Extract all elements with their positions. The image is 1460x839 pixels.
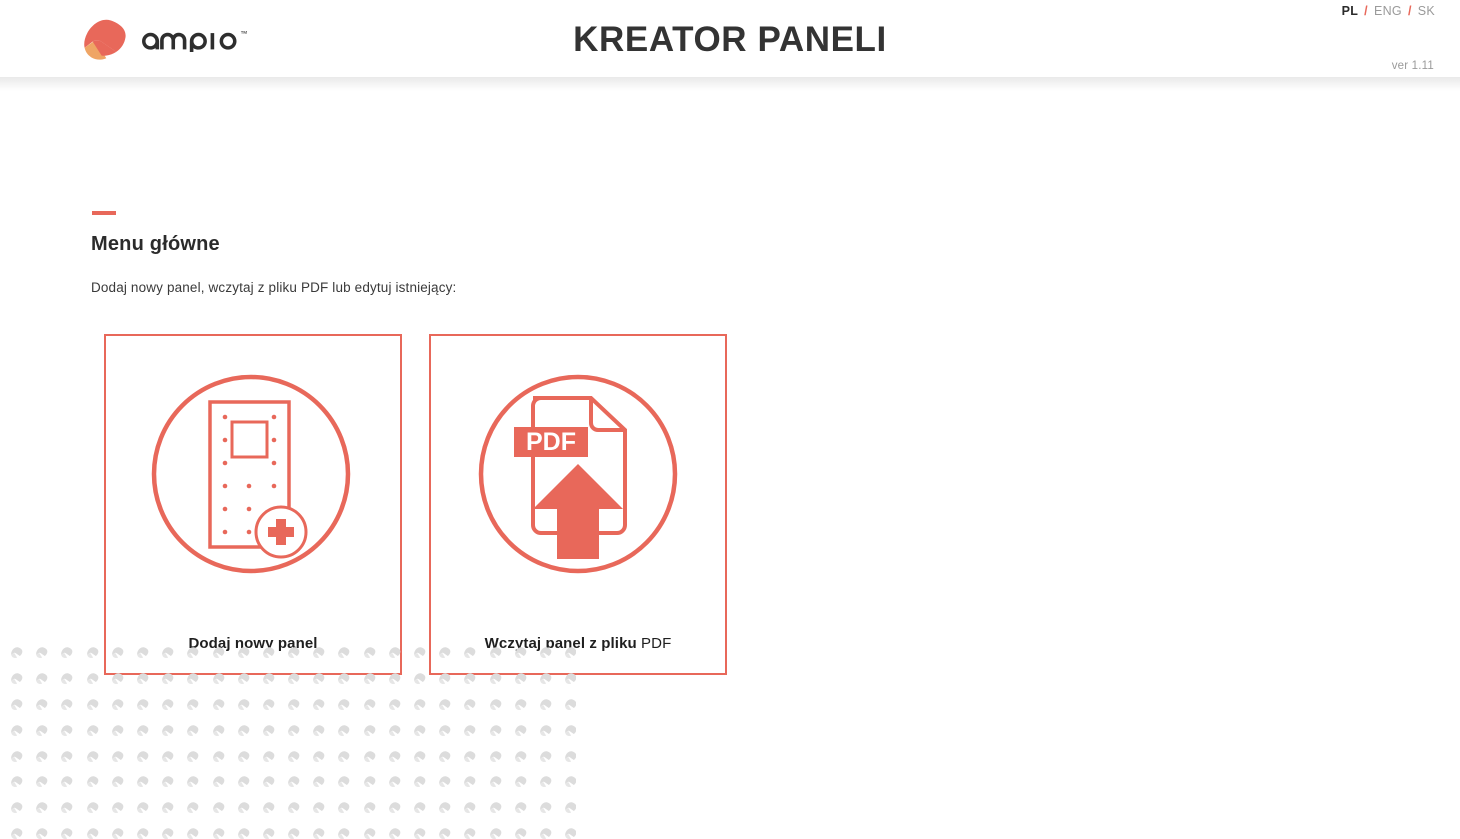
pattern-logo-tile [111, 827, 124, 839]
pattern-logo-tile [186, 698, 199, 710]
load-panel-from-pdf-label: Wczytaj panel z pliku PDF [431, 635, 725, 652]
pattern-logo-tile [237, 775, 250, 787]
pattern-logo-tile [363, 724, 376, 736]
pattern-logo-tile [111, 724, 124, 736]
load-panel-from-pdf-label-bold: Wczytaj panel z pliku [485, 635, 637, 652]
add-new-panel-label-bold: Dodaj nowy panel [188, 635, 317, 652]
pattern-logo-tile [161, 698, 174, 710]
pattern-logo-tile [10, 672, 23, 684]
pattern-logo-tile [262, 750, 275, 762]
pattern-logo-tile [388, 827, 401, 839]
pattern-logo-tile [262, 801, 275, 813]
pattern-logo-tile [287, 724, 300, 736]
pattern-logo-tile [186, 801, 199, 813]
pattern-logo-tile [438, 698, 451, 710]
pattern-logo-tile [363, 750, 376, 762]
pattern-logo-tile [337, 827, 350, 839]
pattern-logo-tile [111, 775, 124, 787]
pattern-logo-tile [136, 698, 149, 710]
pattern-logo-tile [312, 698, 325, 710]
version-label: ver 1.11 [1392, 60, 1434, 72]
pattern-logo-tile [262, 724, 275, 736]
pattern-logo-tile [312, 801, 325, 813]
pattern-logo-tile [463, 827, 476, 839]
pattern-logo-tile [463, 750, 476, 762]
pattern-logo-tile [10, 646, 23, 658]
pattern-logo-tile [136, 775, 149, 787]
app-header: ™ KREATOR PANELI PL / ENG / SK ver 1.11 [0, 0, 1460, 77]
pattern-logo-tile [212, 724, 225, 736]
pattern-logo-tile [60, 827, 73, 839]
pattern-logo-tile [363, 827, 376, 839]
pattern-logo-tile [463, 801, 476, 813]
pattern-logo-tile [337, 750, 350, 762]
pattern-logo-tile [186, 750, 199, 762]
pattern-logo-tile [514, 724, 527, 736]
pattern-logo-tile [262, 827, 275, 839]
pattern-logo-tile [10, 827, 23, 839]
pattern-logo-tile [564, 827, 576, 839]
pattern-logo-tile [60, 672, 73, 684]
pattern-logo-tile [413, 724, 426, 736]
pattern-logo-tile [10, 724, 23, 736]
pattern-logo-tile [161, 724, 174, 736]
add-new-panel-label: Dodaj nowy panel [106, 635, 400, 652]
pattern-logo-tile [413, 775, 426, 787]
pattern-logo-tile [539, 724, 552, 736]
pattern-logo-tile [438, 827, 451, 839]
section-title: Menu główne [91, 233, 220, 256]
pattern-logo-tile [312, 750, 325, 762]
pattern-logo-tile [35, 750, 48, 762]
pattern-logo-tile [86, 775, 99, 787]
pattern-logo-tile [60, 698, 73, 710]
pdf-upload-icon: PDF [471, 369, 685, 583]
pattern-logo-tile [86, 672, 99, 684]
pattern-logo-tile [463, 724, 476, 736]
pattern-logo-tile [35, 801, 48, 813]
pattern-logo-tile [60, 724, 73, 736]
pattern-logo-tile [186, 724, 199, 736]
pattern-logo-tile [161, 750, 174, 762]
pattern-logo-tile [237, 801, 250, 813]
pattern-logo-tile [237, 750, 250, 762]
pattern-logo-tile [111, 750, 124, 762]
pattern-logo-tile [363, 698, 376, 710]
pattern-logo-tile [86, 724, 99, 736]
pattern-logo-tile [413, 801, 426, 813]
pattern-logo-tile [35, 775, 48, 787]
pattern-logo-tile [489, 801, 502, 813]
pattern-logo-tile [111, 801, 124, 813]
action-card-list: Dodaj nowy panel PDF Wczytaj pan [104, 334, 727, 675]
pattern-logo-tile [489, 724, 502, 736]
pattern-logo-tile [564, 698, 576, 710]
pattern-logo-tile [212, 801, 225, 813]
pattern-logo-tile [287, 775, 300, 787]
pattern-logo-tile [564, 775, 576, 787]
pattern-logo-tile [35, 646, 48, 658]
pattern-logo-tile [212, 775, 225, 787]
pattern-logo-tile [186, 775, 199, 787]
pattern-logo-tile [438, 775, 451, 787]
pattern-logo-tile [564, 750, 576, 762]
pattern-logo-tile [489, 750, 502, 762]
pattern-logo-tile [489, 775, 502, 787]
pattern-logo-tile [10, 750, 23, 762]
pattern-logo-tile [86, 827, 99, 839]
pattern-logo-tile [287, 827, 300, 839]
load-panel-from-pdf-card[interactable]: PDF Wczytaj panel z pliku PDF [429, 334, 727, 675]
pattern-logo-tile [10, 698, 23, 710]
pattern-logo-tile [363, 801, 376, 813]
pattern-logo-tile [438, 724, 451, 736]
pattern-logo-tile [363, 775, 376, 787]
pattern-logo-tile [287, 801, 300, 813]
pattern-logo-tile [489, 827, 502, 839]
pattern-logo-tile [337, 775, 350, 787]
lang-separator-2: / [1408, 4, 1412, 18]
pattern-logo-tile [136, 827, 149, 839]
page-title: KREATOR PANELI [0, 20, 1460, 60]
pattern-logo-tile [539, 801, 552, 813]
pattern-logo-tile [136, 750, 149, 762]
pattern-logo-tile [136, 801, 149, 813]
pattern-logo-tile [514, 827, 527, 839]
section-subtitle: Dodaj nowy panel, wczytaj z pliku PDF lu… [91, 280, 456, 295]
pattern-logo-tile [212, 750, 225, 762]
pattern-logo-tile [388, 775, 401, 787]
pattern-logo-tile [287, 698, 300, 710]
pattern-logo-tile [539, 775, 552, 787]
pattern-logo-tile [262, 698, 275, 710]
pattern-logo-tile [60, 750, 73, 762]
pattern-logo-tile [60, 646, 73, 658]
panel-with-plus-icon [146, 369, 360, 583]
pattern-logo-tile [413, 698, 426, 710]
pattern-logo-tile [463, 775, 476, 787]
pattern-logo-tile [438, 750, 451, 762]
pattern-logo-tile [539, 698, 552, 710]
pattern-logo-tile [312, 724, 325, 736]
pattern-logo-tile [86, 750, 99, 762]
pattern-logo-tile [111, 698, 124, 710]
add-new-panel-card[interactable]: Dodaj nowy panel [104, 334, 402, 675]
pattern-logo-tile [35, 827, 48, 839]
pattern-logo-tile [10, 775, 23, 787]
pattern-logo-tile [86, 801, 99, 813]
pattern-logo-tile [388, 724, 401, 736]
language-switcher[interactable]: PL / ENG / SK [1342, 4, 1435, 18]
pattern-logo-tile [337, 801, 350, 813]
pattern-logo-tile [86, 698, 99, 710]
pattern-logo-tile [438, 801, 451, 813]
pattern-logo-tile [413, 750, 426, 762]
pattern-logo-tile [161, 775, 174, 787]
pattern-logo-tile [312, 775, 325, 787]
section-accent-rule [92, 211, 116, 215]
pattern-logo-tile [287, 750, 300, 762]
pattern-logo-tile [35, 698, 48, 710]
pattern-logo-tile [237, 827, 250, 839]
pattern-logo-tile [35, 672, 48, 684]
pattern-logo-tile [514, 775, 527, 787]
lang-option-eng[interactable]: ENG [1374, 4, 1402, 18]
pattern-logo-tile [337, 698, 350, 710]
pdf-badge-text: PDF [526, 428, 576, 456]
pattern-logo-tile [237, 724, 250, 736]
pattern-logo-tile [514, 801, 527, 813]
pattern-logo-tile [262, 775, 275, 787]
pattern-logo-tile [514, 750, 527, 762]
pattern-logo-tile [35, 724, 48, 736]
pattern-logo-tile [388, 750, 401, 762]
pattern-logo-tile [86, 646, 99, 658]
pattern-logo-tile [564, 724, 576, 736]
pattern-logo-tile [237, 698, 250, 710]
pattern-logo-tile [212, 698, 225, 710]
pattern-logo-tile [312, 827, 325, 839]
pattern-logo-tile [388, 698, 401, 710]
lang-separator-1: / [1364, 4, 1368, 18]
lang-option-sk[interactable]: SK [1418, 4, 1435, 18]
pattern-logo-tile [388, 801, 401, 813]
pattern-logo-tile [413, 827, 426, 839]
pattern-logo-tile [539, 750, 552, 762]
load-panel-from-pdf-label-light: PDF [637, 635, 672, 652]
pattern-logo-tile [136, 724, 149, 736]
pattern-logo-tile [10, 801, 23, 813]
pattern-logo-tile [60, 775, 73, 787]
pattern-logo-tile [489, 698, 502, 710]
lang-option-pl[interactable]: PL [1342, 4, 1359, 18]
pattern-logo-tile [337, 724, 350, 736]
pattern-logo-tile [161, 827, 174, 839]
pattern-logo-tile [539, 827, 552, 839]
pattern-logo-tile [60, 801, 73, 813]
pattern-logo-tile [463, 698, 476, 710]
pattern-logo-tile [514, 698, 527, 710]
pattern-logo-tile [161, 801, 174, 813]
pattern-logo-tile [564, 801, 576, 813]
pattern-logo-tile [212, 827, 225, 839]
pattern-logo-tile [186, 827, 199, 839]
